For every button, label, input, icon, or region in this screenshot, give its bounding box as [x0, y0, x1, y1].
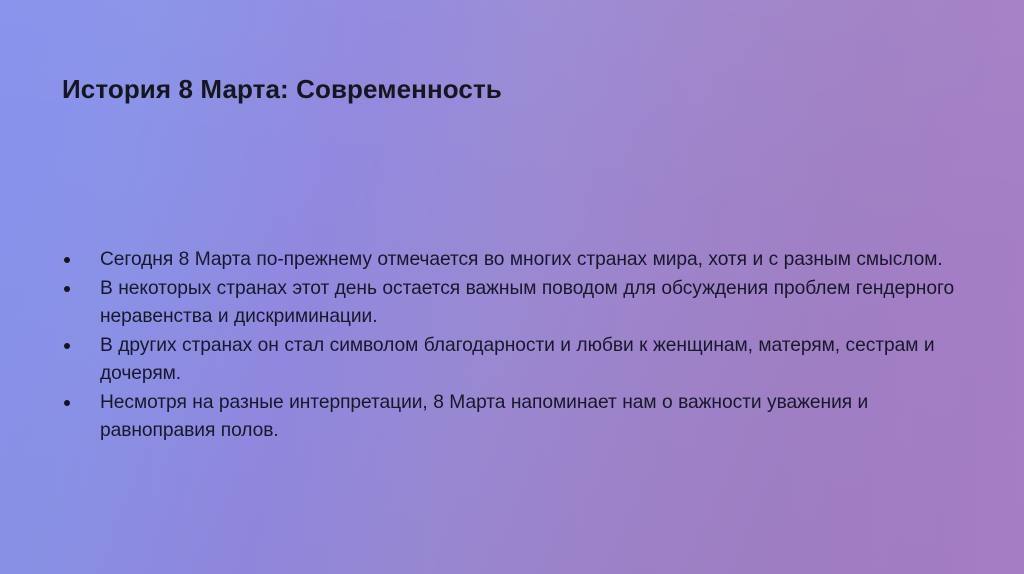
- bullet-point-icon: [64, 257, 70, 263]
- list-item: Сегодня 8 Марта по-прежнему отмечается в…: [58, 246, 958, 274]
- bullet-point-icon: [64, 400, 70, 406]
- list-item: Несмотря на разные интерпретации, 8 Март…: [58, 389, 958, 445]
- list-item: В других странах он стал символом благод…: [58, 332, 958, 388]
- slide-body: Сегодня 8 Марта по-прежнему отмечается в…: [58, 246, 958, 446]
- bullet-text: Сегодня 8 Марта по-прежнему отмечается в…: [100, 246, 958, 274]
- presentation-slide: История 8 Марта: Современность Сегодня 8…: [0, 0, 1024, 574]
- bullet-text: В некоторых странах этот день остается в…: [100, 275, 958, 331]
- list-item: В некоторых странах этот день остается в…: [58, 275, 958, 331]
- bullet-list: Сегодня 8 Марта по-прежнему отмечается в…: [58, 246, 958, 445]
- bullet-point-icon: [64, 286, 70, 292]
- bullet-text: В других странах он стал символом благод…: [100, 332, 958, 388]
- bullet-text: Несмотря на разные интерпретации, 8 Март…: [100, 389, 958, 445]
- slide-title: История 8 Марта: Современность: [62, 73, 962, 105]
- bullet-point-icon: [64, 343, 70, 349]
